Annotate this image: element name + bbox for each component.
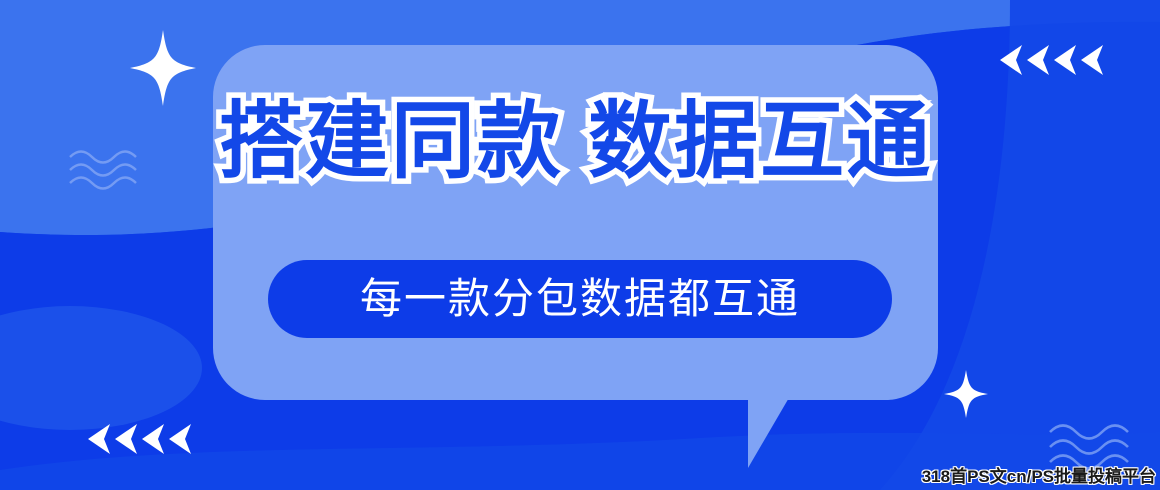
chevron-left-group-top xyxy=(1000,45,1103,75)
subtitle-text: 每一款分包数据都互通 xyxy=(360,278,800,320)
speech-bubble-tail xyxy=(748,396,790,468)
subtitle-pill: 每一款分包数据都互通 xyxy=(268,260,892,338)
sparkle-icon xyxy=(130,30,196,106)
chevron-left-group-bottom xyxy=(88,424,191,454)
watermark-text: 318首PS文cn/PS批量投稿平台 xyxy=(922,462,1156,487)
promo-banner: 搭建同款 数据互通 每一款分包数据都互通 318首PS文cn/PS批量投稿平台 xyxy=(0,0,1160,490)
headline-text: 搭建同款 数据互通 xyxy=(213,96,938,187)
sparkle-icon xyxy=(944,370,988,418)
wave-lines-icon xyxy=(70,152,136,189)
